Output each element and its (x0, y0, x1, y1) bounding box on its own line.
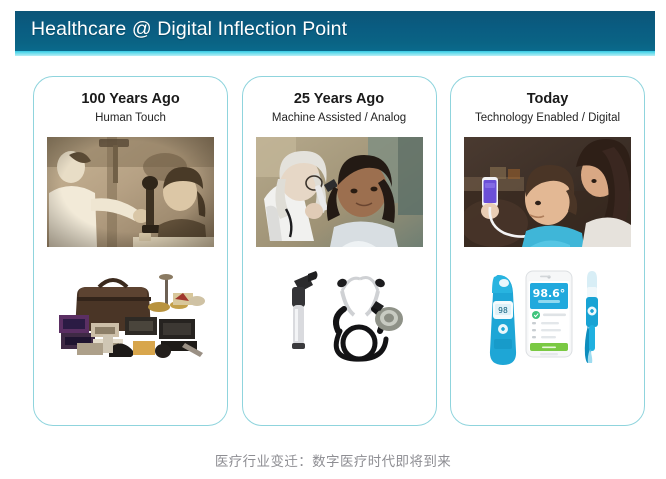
card-subtitle: Machine Assisted / Analog (272, 112, 406, 125)
child-smartphone-medical-device-photo (464, 137, 631, 247)
timeline-cards-row: 100 Years Ago Human Touch (33, 76, 645, 426)
digital-thermometers-app-photo: 98 98.6° (464, 257, 631, 365)
card-subtitle: Human Touch (95, 112, 166, 125)
header-accent-line (15, 51, 655, 56)
page-title: Healthcare @ Digital Inflection Point (31, 18, 347, 41)
timeline-card-100-years-ago[interactable]: 100 Years Ago Human Touch (33, 76, 228, 426)
card-title: 100 Years Ago (81, 92, 179, 108)
slide-caption: 医疗行业变迁：数字医疗时代即将到来 (0, 450, 666, 470)
card-title: 25 Years Ago (294, 92, 384, 108)
app-temperature-reading: 98.6° (533, 287, 566, 300)
timeline-card-today[interactable]: Today Technology Enabled / Digital (450, 76, 645, 426)
card-subtitle: Technology Enabled / Digital (475, 112, 620, 125)
svg-text:98: 98 (498, 306, 508, 315)
vintage-doctor-bag-instruments-photo (47, 257, 214, 365)
timeline-card-25-years-ago[interactable]: 25 Years Ago Machine Assisted / Analog (242, 76, 437, 426)
otoscope-and-stethoscope-photo (256, 257, 423, 365)
card-title: Today (527, 92, 569, 108)
doctor-otoscope-ear-exam-photo (256, 137, 423, 247)
vintage-doctor-examining-patient-photo (47, 137, 214, 247)
slide-header-bar: Healthcare @ Digital Inflection Point (15, 11, 655, 51)
